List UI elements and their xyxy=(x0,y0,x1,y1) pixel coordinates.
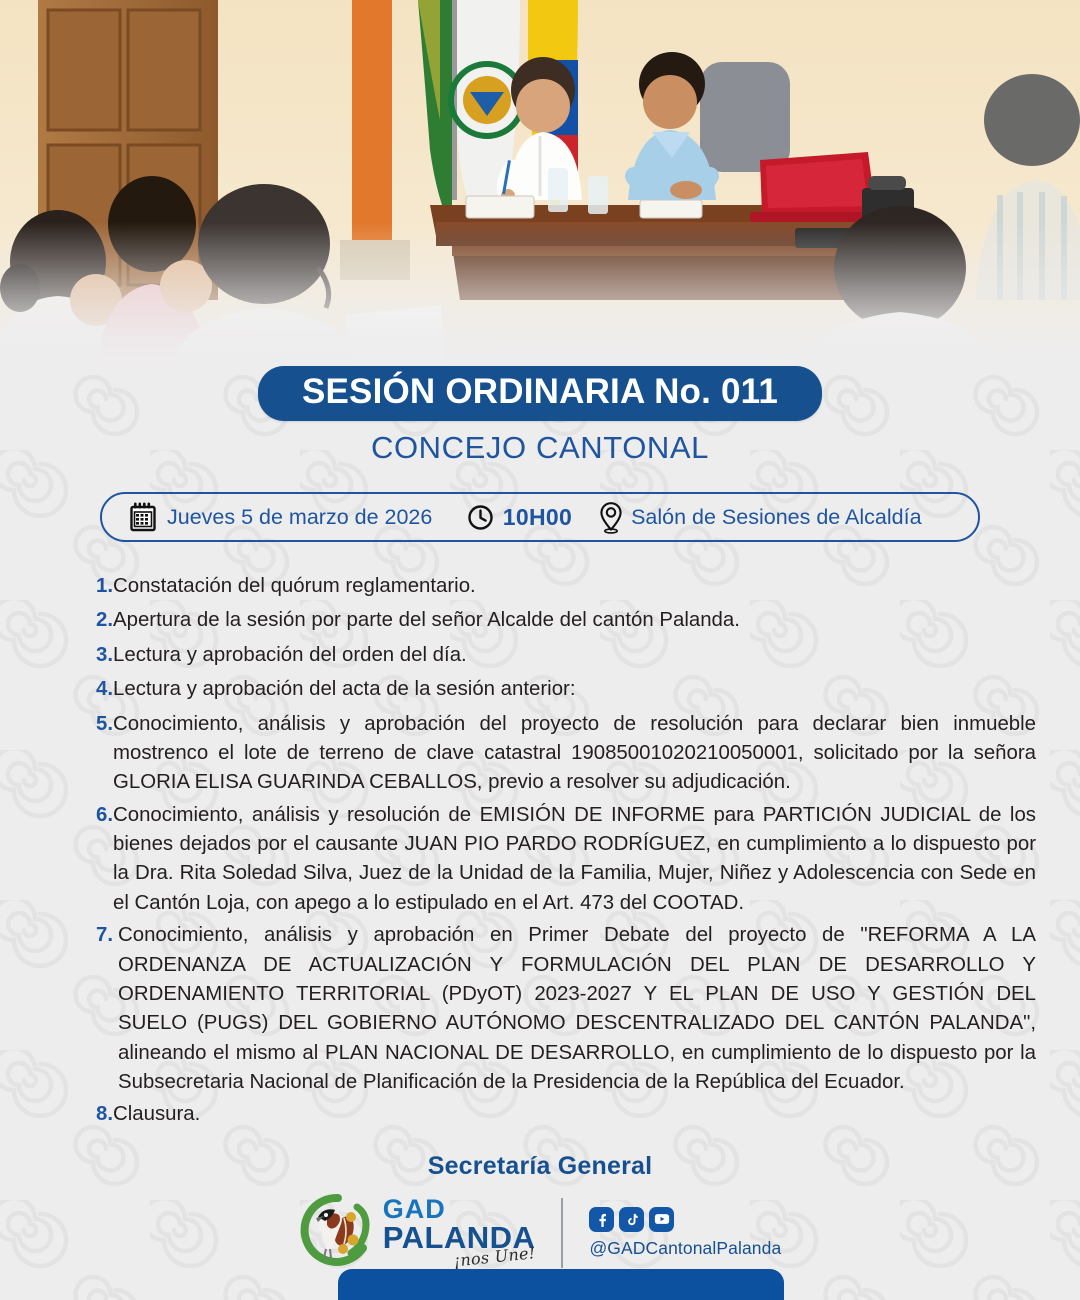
agenda-item-number: 1. xyxy=(96,572,113,601)
info-time-text: 10H00 xyxy=(503,504,572,531)
agenda-item: 2. Apertura de la sesión por parte del s… xyxy=(96,606,1036,635)
agenda-item-text: Clausura. xyxy=(113,1100,1036,1129)
logo-gad-text: GAD xyxy=(383,1197,536,1222)
info-place-text: Salón de Sesiones de Alcaldía xyxy=(631,505,921,530)
tiktok-icon[interactable] xyxy=(619,1207,644,1232)
title-section: SESIÓN ORDINARIA No. 011 CONCEJO CANTONA… xyxy=(0,366,1080,466)
agenda-item-number: 8. xyxy=(96,1100,113,1129)
agenda-item: 8. Clausura. xyxy=(96,1100,1036,1129)
agenda-item: 1. Constatación del quórum reglamentario… xyxy=(96,572,1036,601)
agenda-item-number: 7. xyxy=(96,921,118,950)
page-title: SESIÓN ORDINARIA No. 011 xyxy=(258,366,822,421)
agenda-item-text: Lectura y aprobación del acta de la sesi… xyxy=(113,675,1036,704)
agenda-item-number: 2. xyxy=(96,606,113,635)
info-date: Jueves 5 de marzo de 2026 xyxy=(128,501,432,533)
gad-palanda-logo: GAD PALANDA ¡nos Une! xyxy=(299,1191,536,1274)
agenda-item-number: 5. xyxy=(96,710,113,739)
page-subtitle: CONCEJO CANTONAL xyxy=(0,430,1080,466)
clock-icon xyxy=(467,504,494,531)
photo-fade-overlay xyxy=(0,222,1080,372)
agenda-item-text: Constatación del quórum reglamentario. xyxy=(113,572,1036,601)
agenda-item: 6. Conocimiento, análisis y resolución d… xyxy=(96,801,1036,919)
agenda-item-text: Apertura de la sesión por parte del seño… xyxy=(113,606,1036,635)
secretaria-general-label: Secretaría General xyxy=(0,1152,1080,1181)
location-pin-icon xyxy=(598,501,624,534)
session-info-bar: Jueves 5 de marzo de 2026 10H00 Salón de… xyxy=(100,492,980,542)
footer-divider xyxy=(561,1198,563,1268)
youtube-icon[interactable] xyxy=(649,1207,674,1232)
agenda-item: 5. Conocimiento, análisis y aprobación d… xyxy=(96,710,1036,798)
agenda-item-text: Conocimiento, análisis y aprobación del … xyxy=(113,710,1036,798)
agenda-item: 7. Conocimiento, análisis y aprobación e… xyxy=(96,921,1036,1097)
bottom-accent-bar xyxy=(338,1269,784,1300)
info-place: Salón de Sesiones de Alcaldía xyxy=(598,501,921,534)
agenda-item-text: Lectura y aprobación del orden del día. xyxy=(113,641,1036,670)
header-photograph xyxy=(0,0,1080,372)
gad-palanda-wordmark: GAD PALANDA ¡nos Une! xyxy=(383,1197,536,1268)
footer-row: GAD PALANDA ¡nos Une! xyxy=(0,1191,1080,1274)
footer-section: Secretaría General xyxy=(0,1152,1080,1274)
agenda-item-number: 6. xyxy=(96,801,113,830)
info-date-text: Jueves 5 de marzo de 2026 xyxy=(167,505,432,530)
agenda-item-number: 4. xyxy=(96,675,113,704)
agenda-item-text: Conocimiento, análisis y aprobación en P… xyxy=(118,921,1036,1097)
agenda-item: 4. Lectura y aprobación del acta de la s… xyxy=(96,675,1036,704)
social-handle-text: @GADCantonalPalanda xyxy=(589,1238,781,1259)
gad-palanda-bird-cacao-logo-icon xyxy=(299,1191,377,1274)
agenda-list: 1. Constatación del quórum reglamentario… xyxy=(96,572,1036,1135)
agenda-item: 3. Lectura y aprobación del orden del dí… xyxy=(96,641,1036,670)
facebook-icon[interactable] xyxy=(589,1207,614,1232)
agenda-item-text: Conocimiento, análisis y resolución de E… xyxy=(113,801,1036,919)
social-block: @GADCantonalPalanda xyxy=(589,1207,781,1259)
social-icons xyxy=(589,1207,781,1232)
agenda-item-number: 3. xyxy=(96,641,113,670)
calendar-icon xyxy=(128,501,158,533)
info-time: 10H00 xyxy=(467,504,572,531)
